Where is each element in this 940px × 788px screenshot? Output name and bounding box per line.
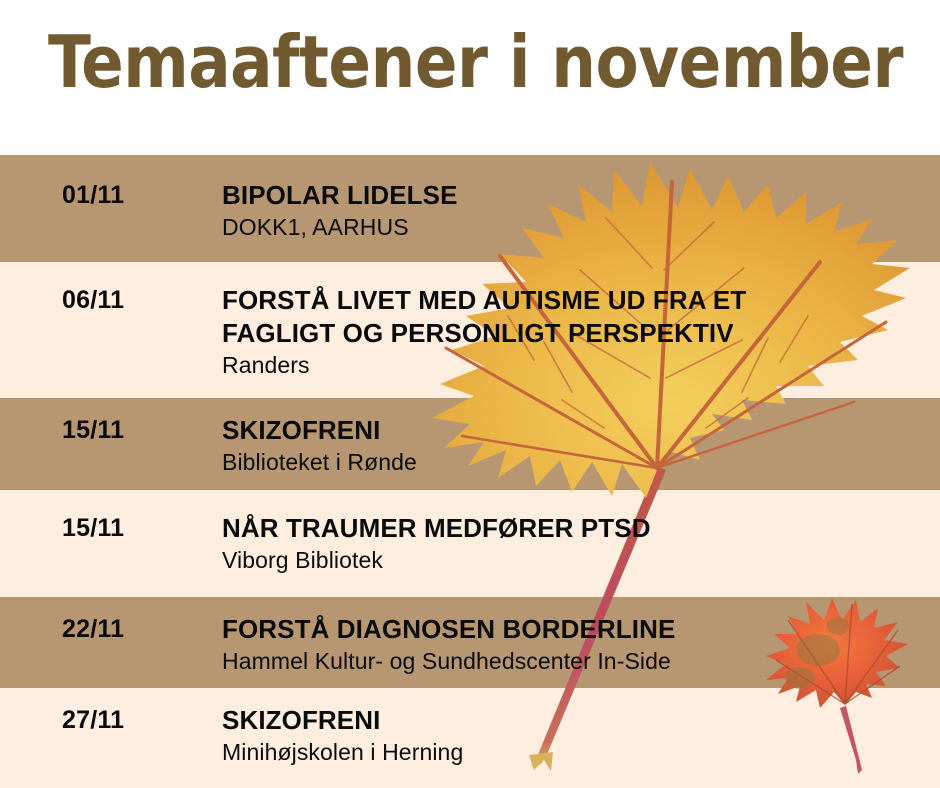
page-title: Temaaftener i november <box>48 26 903 98</box>
event-date: 15/11 <box>62 416 124 445</box>
event-date: 06/11 <box>62 286 124 315</box>
list-item: 15/11 NÅR TRAUMER MEDFØRER PTSD Viborg B… <box>0 490 940 597</box>
event-date: 01/11 <box>62 181 124 210</box>
event-body: SKIZOFRENI Minihøjskolen i Herning <box>222 704 922 767</box>
event-venue: Minihøjskolen i Herning <box>222 738 922 767</box>
event-body: FORSTÅ DIAGNOSEN BORDERLINE Hammel Kultu… <box>222 613 922 676</box>
event-body: FORSTÅ LIVET MED AUTISME UD FRA ET FAGLI… <box>222 284 822 379</box>
list-item: 22/11 FORSTÅ DIAGNOSEN BORDERLINE Hammel… <box>0 597 940 688</box>
list-item: 01/11 BIPOLAR LIDELSE DOKK1, AARHUS <box>0 155 940 262</box>
event-title: FORSTÅ LIVET MED AUTISME UD FRA ET FAGLI… <box>222 284 822 350</box>
event-date: 27/11 <box>62 706 124 735</box>
event-title: FORSTÅ DIAGNOSEN BORDERLINE <box>222 613 922 646</box>
event-title: SKIZOFRENI <box>222 414 922 447</box>
list-item: 06/11 FORSTÅ LIVET MED AUTISME UD FRA ET… <box>0 262 940 398</box>
event-title: NÅR TRAUMER MEDFØRER PTSD <box>222 512 922 545</box>
event-date: 15/11 <box>62 514 124 543</box>
event-venue: Randers <box>222 351 822 380</box>
list-item: 27/11 SKIZOFRENI Minihøjskolen i Herning <box>0 688 940 788</box>
event-venue: Hammel Kultur- og Sundhedscenter In-Side <box>222 647 922 676</box>
event-title: BIPOLAR LIDELSE <box>222 179 922 212</box>
event-venue: DOKK1, AARHUS <box>222 213 922 242</box>
poster-header: Temaaftener i november <box>0 0 940 155</box>
event-venue: Biblioteket i Rønde <box>222 448 922 477</box>
event-venue: Viborg Bibliotek <box>222 546 922 575</box>
poster: Temaaftener i november 01/11 BIPOLAR LID… <box>0 0 940 788</box>
event-body: BIPOLAR LIDELSE DOKK1, AARHUS <box>222 179 922 242</box>
event-body: NÅR TRAUMER MEDFØRER PTSD Viborg Bibliot… <box>222 512 922 575</box>
list-item: 15/11 SKIZOFRENI Biblioteket i Rønde <box>0 398 940 490</box>
event-body: SKIZOFRENI Biblioteket i Rønde <box>222 414 922 477</box>
event-date: 22/11 <box>62 615 124 644</box>
event-title: SKIZOFRENI <box>222 704 922 737</box>
